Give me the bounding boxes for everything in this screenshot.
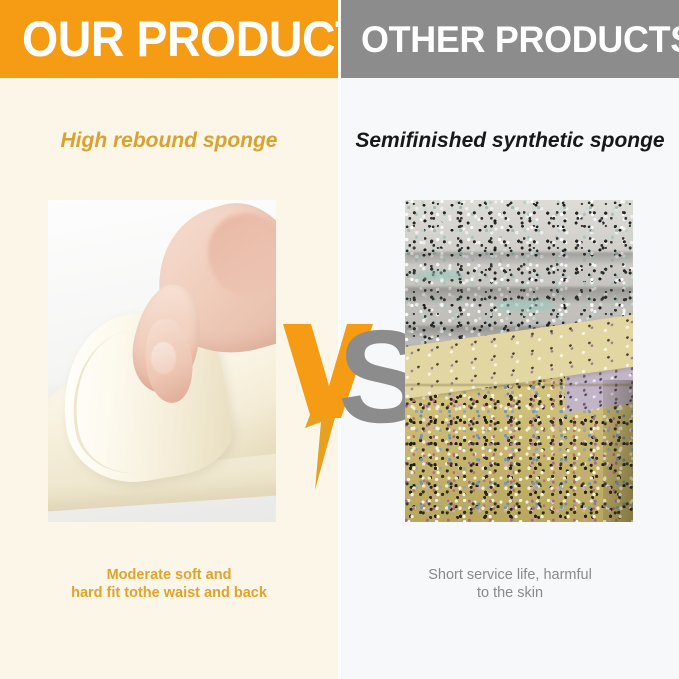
our-product-header-bar: OUR PRODUCT: [0, 0, 338, 78]
left-subtitle: High rebound sponge: [0, 126, 338, 156]
right-subtitle: Semifinished synthetic sponge: [341, 126, 679, 156]
foam-teal-fleck: [414, 271, 464, 281]
our-product-header-label: OUR PRODUCT: [22, 14, 363, 64]
right-caption: Short service life, harmful to the skin: [341, 566, 679, 614]
comparison-infographic: OUR PRODUCT OTHER PRODUCTS High rebound …: [0, 0, 679, 679]
foam-dark-band: [405, 252, 633, 265]
left-caption-text: Moderate soft and hard fit tothe waist a…: [71, 566, 267, 602]
foam-block-side-shading: [603, 380, 633, 522]
panel-divider: [338, 0, 341, 679]
hand-fingernail: [151, 342, 176, 374]
other-products-header-label: OTHER PRODUCTS: [361, 21, 679, 58]
right-caption-text: Short service life, harmful to the skin: [428, 566, 592, 602]
right-product-photo: [405, 200, 633, 522]
left-product-photo: [48, 200, 276, 522]
left-caption: Moderate soft and hard fit tothe waist a…: [0, 566, 338, 614]
foam-block-front-edge: [405, 384, 633, 386]
other-products-header-bar: OTHER PRODUCTS: [341, 0, 679, 78]
foam-teal-fleck: [496, 300, 555, 311]
